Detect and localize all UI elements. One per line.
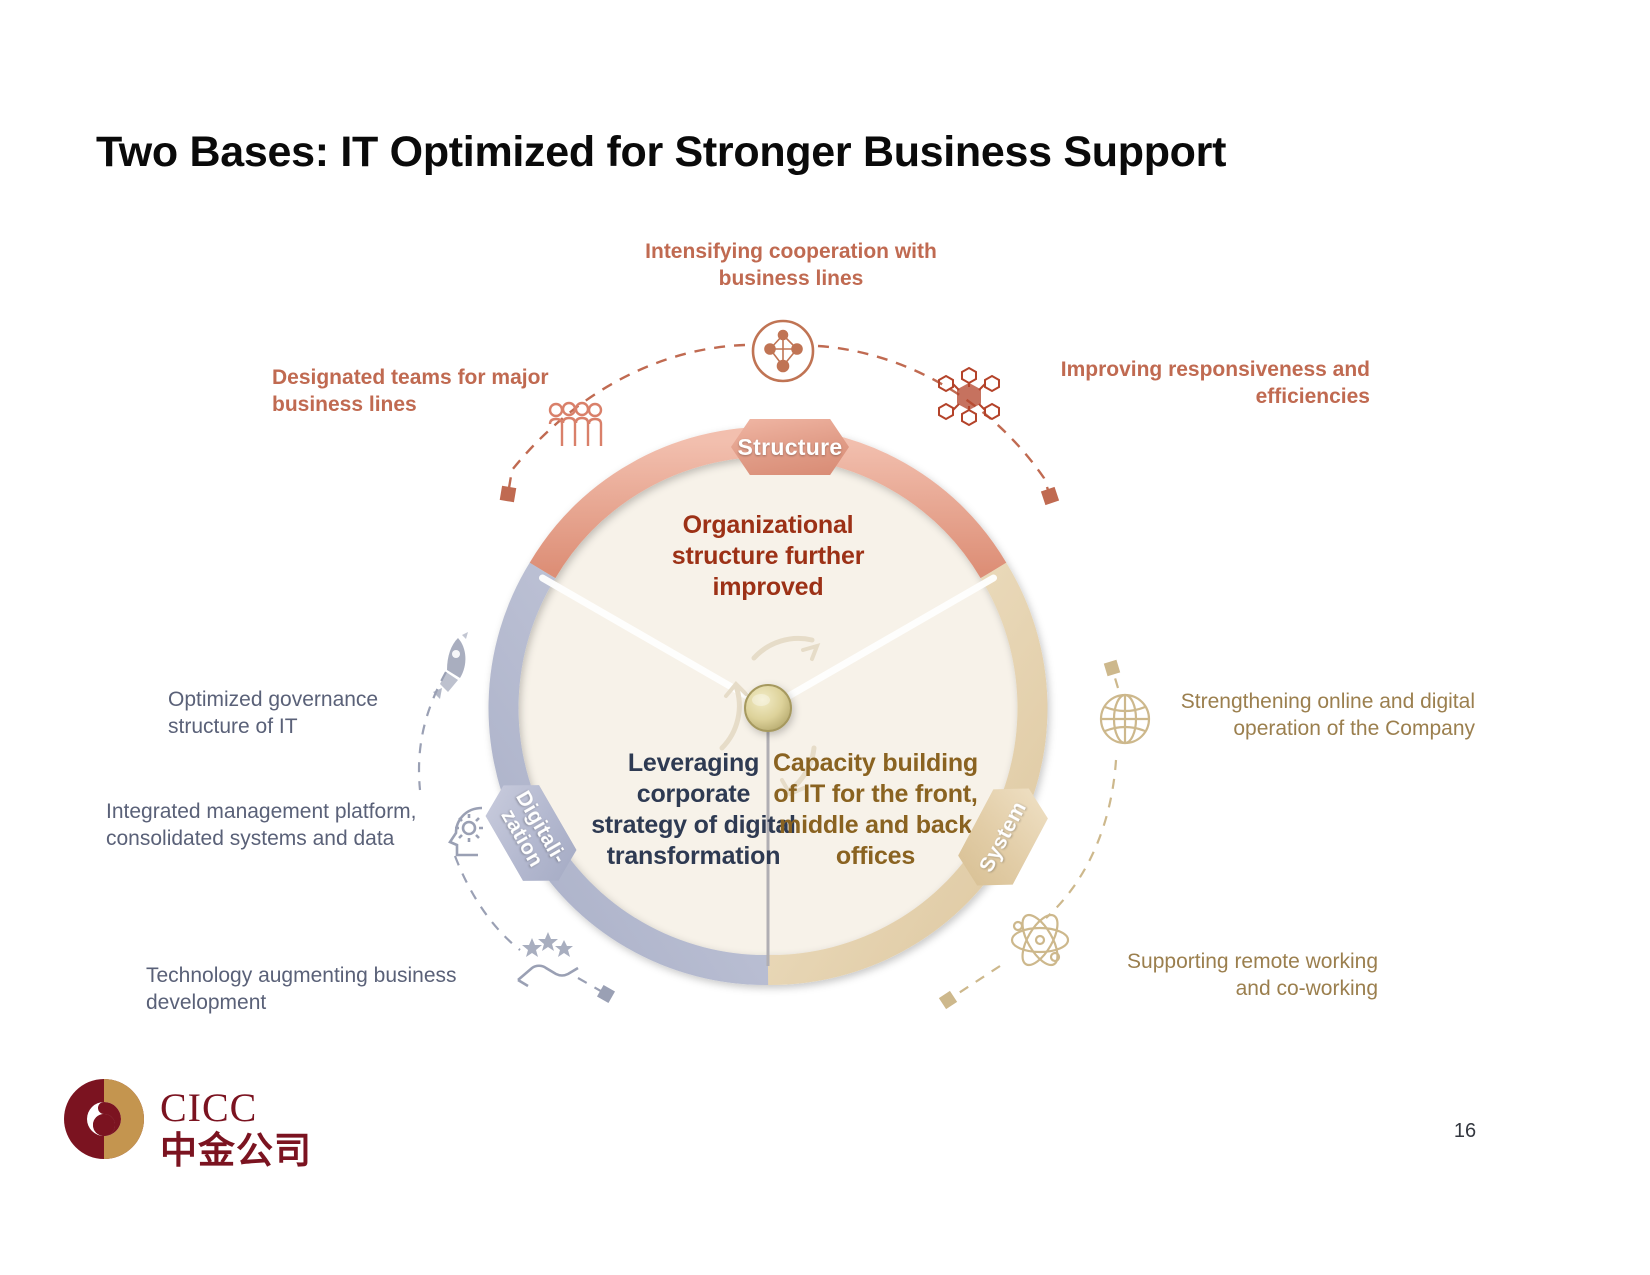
page-number: 16	[1440, 1120, 1490, 1143]
rocket-icon	[420, 632, 476, 710]
cicc-logo: CICC 中金公司	[60, 1075, 310, 1170]
logo-text-cn: 中金公司	[160, 1129, 310, 1170]
globe-icon	[1096, 690, 1154, 748]
segment-text-system: Capacity building of IT for the front, m…	[768, 748, 983, 872]
segment-text-structure: Organizational structure further improve…	[638, 510, 898, 603]
badge-structure-label: Structure	[738, 434, 843, 461]
badge-system-label: System	[974, 798, 1031, 877]
three-segment-wheel: Organizational structure further improve…	[478, 418, 1058, 998]
network-nodes-icon	[748, 316, 818, 386]
badge-structure[interactable]: Structure	[731, 419, 849, 475]
slide-canvas: Two Bases: IT Optimized for Stronger Bus…	[0, 0, 1650, 1275]
logo-text-en: CICC	[160, 1085, 257, 1130]
